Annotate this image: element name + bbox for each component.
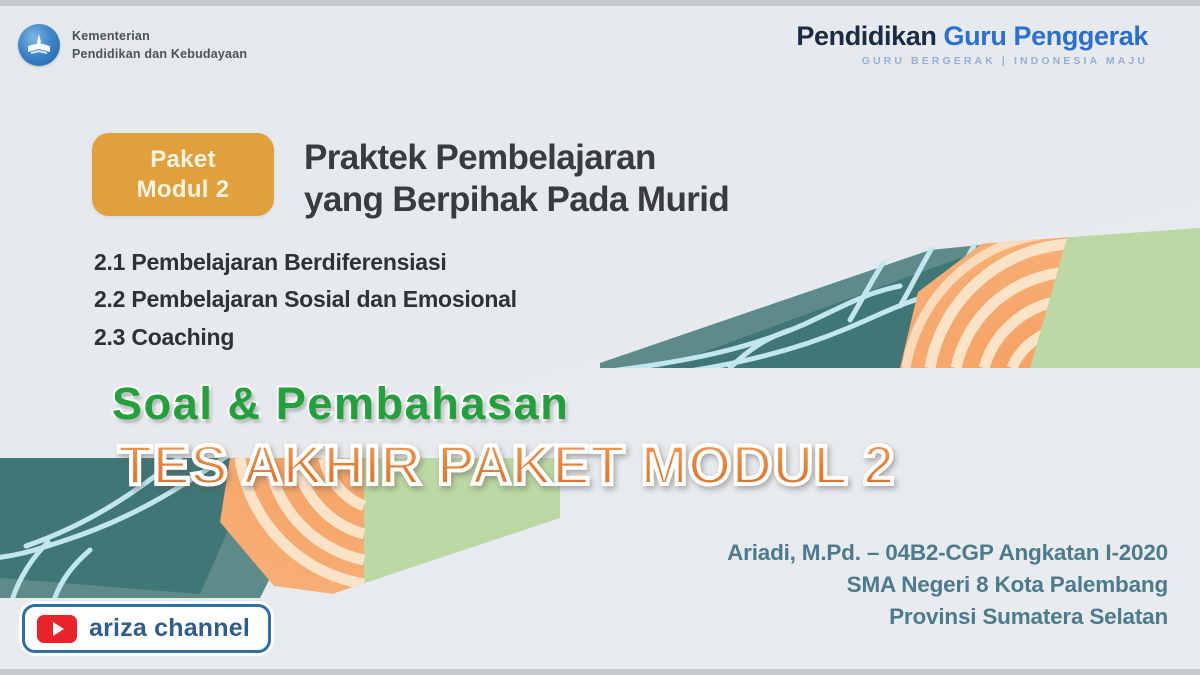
module-block: Paket Modul 2 Praktek Pembelajaran yang … bbox=[92, 133, 729, 221]
ministry-line-2: Pendidikan dan Kebudayaan bbox=[72, 45, 247, 63]
module-badge: Paket Modul 2 bbox=[92, 133, 274, 216]
author-school-line: SMA Negeri 8 Kota Palembang bbox=[727, 569, 1168, 601]
overlay-subtitle: Soal & Pembahasan bbox=[112, 378, 569, 430]
program-title: Pendidikan Guru Penggerak bbox=[796, 22, 1148, 50]
module-badge-line-1: Paket bbox=[150, 145, 216, 174]
ministry-line-1: Kementerian bbox=[72, 27, 247, 45]
topic-list: 2.1 Pembelajaran Berdiferensiasi 2.2 Pem… bbox=[94, 244, 517, 356]
youtube-play-icon bbox=[37, 615, 77, 643]
module-title-line-1: Praktek Pembelajaran bbox=[304, 137, 729, 179]
kemendikbud-tutwuri-logo-icon bbox=[18, 24, 60, 66]
module-badge-line-2: Modul 2 bbox=[137, 175, 230, 204]
topic-list-item: 2.2 Pembelajaran Sosial dan Emosional bbox=[94, 281, 517, 318]
program-title-word-2: Guru Penggerak bbox=[944, 21, 1148, 51]
ministry-name: Kementerian Pendidikan dan Kebudayaan bbox=[72, 27, 247, 63]
program-logo-block: Pendidikan Guru Penggerak GURU BERGERAK … bbox=[796, 22, 1148, 67]
program-tagline: GURU BERGERAK | INDONESIA MAJU bbox=[796, 55, 1148, 67]
slide-canvas: Kementerian Pendidikan dan Kebudayaan Pe… bbox=[0, 0, 1200, 675]
slide-header: Kementerian Pendidikan dan Kebudayaan Pe… bbox=[0, 0, 1200, 96]
youtube-channel-label: ariza channel bbox=[89, 614, 250, 643]
author-name-line: Ariadi, M.Pd. – 04B2-CGP Angkatan I-2020 bbox=[727, 537, 1168, 569]
youtube-channel-badge[interactable]: ariza channel bbox=[22, 604, 271, 653]
author-block: Ariadi, M.Pd. – 04B2-CGP Angkatan I-2020… bbox=[727, 537, 1168, 633]
topic-list-item: 2.3 Coaching bbox=[94, 319, 517, 356]
letterbox-bar-bottom bbox=[0, 669, 1200, 675]
program-title-word-1: Pendidikan bbox=[796, 21, 936, 51]
module-title-line-2: yang Berpihak Pada Murid bbox=[304, 179, 729, 221]
letterbox-bar-top bbox=[0, 0, 1200, 6]
author-province-line: Provinsi Sumatera Selatan bbox=[727, 601, 1168, 633]
module-title: Praktek Pembelajaran yang Berpihak Pada … bbox=[304, 133, 729, 221]
topic-list-item: 2.1 Pembelajaran Berdiferensiasi bbox=[94, 244, 517, 281]
overlay-title: TES AKHIR PAKET MODUL 2 bbox=[118, 432, 895, 497]
ministry-logo-block: Kementerian Pendidikan dan Kebudayaan bbox=[18, 24, 247, 66]
